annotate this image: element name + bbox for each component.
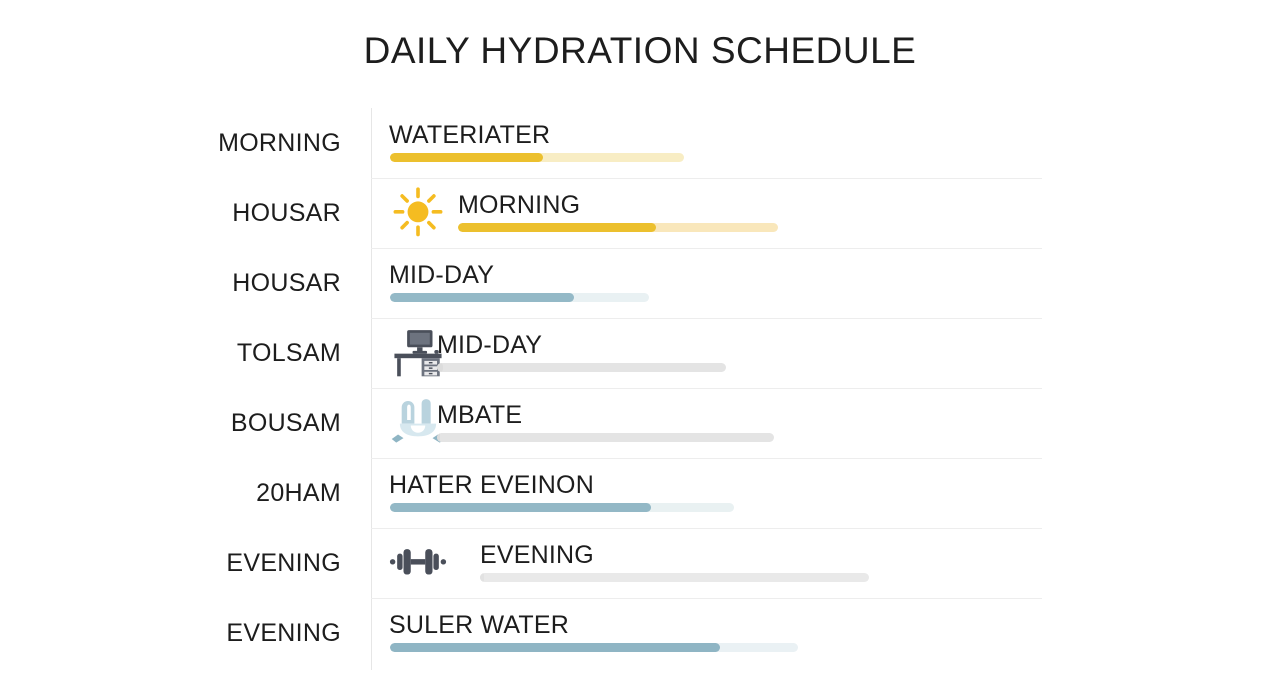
progress-bar-fill (458, 223, 656, 232)
progress-bar-track[interactable] (390, 643, 798, 652)
schedule-row[interactable]: HOUSARMID-DAY (0, 248, 1280, 318)
page-title: DAILY HYDRATION SCHEDULE (0, 30, 1280, 72)
row-content: MORNING (389, 178, 1280, 248)
row-text: MID-DAY (389, 261, 494, 290)
schedule-row[interactable]: HOUSARMORNING (0, 178, 1280, 248)
progress-bar-fill (480, 573, 484, 582)
sun-icon (389, 183, 447, 241)
row-text: HATER EVEINON (389, 471, 594, 500)
row-content: EVENING (389, 528, 1280, 598)
progress-bar-fill (437, 363, 443, 372)
progress-bar-track[interactable] (390, 293, 649, 302)
schedule-list: MORNINGWATERIATERHOUSARMORNINGHOUSARMID-… (0, 108, 1280, 668)
row-label: EVENING (0, 598, 341, 668)
row-content: SULER WATER (389, 598, 1280, 668)
progress-bar-track[interactable] (458, 223, 778, 232)
schedule-row[interactable]: 20HAMHATER EVEINON (0, 458, 1280, 528)
row-label: MORNING (0, 108, 341, 178)
progress-bar-track[interactable] (390, 153, 684, 162)
row-content: MID-DAY (389, 248, 1280, 318)
row-label: TOLSAM (0, 318, 341, 388)
row-content: MBATE (389, 388, 1280, 458)
row-text: MORNING (458, 191, 580, 220)
row-label: BOUSAM (0, 388, 341, 458)
row-label: HOUSAR (0, 248, 341, 318)
row-text: WATERIATER (389, 121, 550, 150)
progress-bar-track[interactable] (390, 503, 734, 512)
schedule-row[interactable]: TOLSAMMID-DAY (0, 318, 1280, 388)
schedule-row[interactable]: EVENINGSULER WATER (0, 598, 1280, 668)
progress-bar-track[interactable] (437, 363, 726, 372)
row-label: HOUSAR (0, 178, 341, 248)
progress-bar-fill (390, 293, 574, 302)
row-text: MBATE (437, 401, 522, 430)
row-content: MID-DAY (389, 318, 1280, 388)
progress-bar-fill (437, 433, 440, 442)
row-text: SULER WATER (389, 611, 569, 640)
progress-bar-fill (390, 643, 720, 652)
row-content: WATERIATER (389, 108, 1280, 178)
dumbbell-icon (389, 533, 447, 591)
schedule-row[interactable]: EVENINGEVENING (0, 528, 1280, 598)
progress-bar-track[interactable] (437, 433, 774, 442)
progress-bar-track[interactable] (480, 573, 869, 582)
row-content: HATER EVEINON (389, 458, 1280, 528)
row-label: EVENING (0, 528, 341, 598)
progress-bar-fill (390, 503, 651, 512)
schedule-row[interactable]: MORNINGWATERIATER (0, 108, 1280, 178)
row-text: EVENING (480, 541, 594, 570)
schedule-row[interactable]: BOUSAMMBATE (0, 388, 1280, 458)
row-text: MID-DAY (437, 331, 542, 360)
row-label: 20HAM (0, 458, 341, 528)
progress-bar-fill (390, 153, 543, 162)
